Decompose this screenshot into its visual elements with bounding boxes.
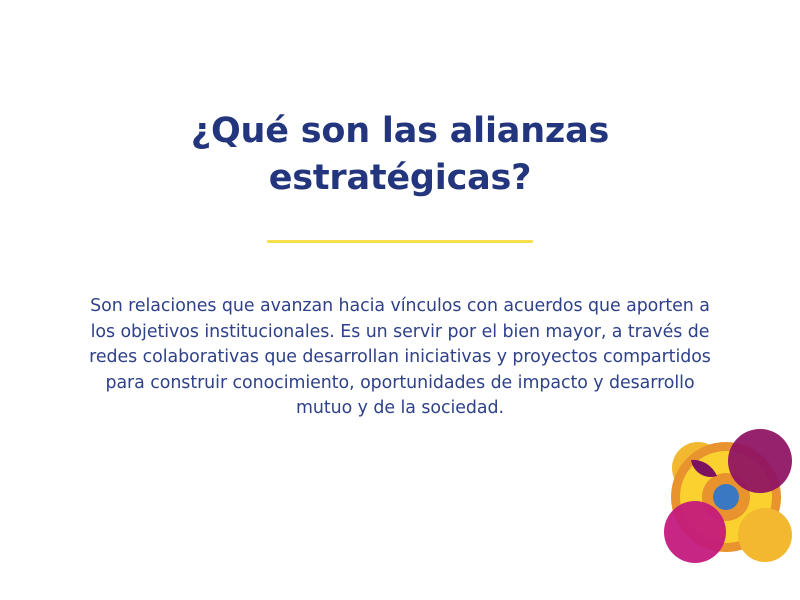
body-line-1: Son relaciones que avanzan hacia vínculo… [44, 294, 756, 320]
logo-satellite-bottom-right [738, 508, 792, 562]
body-line-5: mutuo y de la sociedad. [44, 396, 756, 422]
slide-title-line-1: ¿Qué son las alianzas [100, 108, 700, 155]
title-divider [0, 240, 800, 243]
logo-blue-core [713, 484, 739, 510]
logo-satellite-bottom-left [664, 501, 726, 563]
logo-svg [655, 420, 800, 580]
divider-line [267, 240, 533, 243]
slide-title: ¿Qué son las alianzas estratégicas? [100, 108, 700, 202]
body-line-3: redes colaborativas que desarrollan inic… [44, 345, 756, 371]
body-line-2: los objetivos institucionales. Es un ser… [44, 320, 756, 346]
body-line-4: para construir conocimiento, oportunidad… [44, 371, 756, 397]
slide-canvas: ¿Qué son las alianzas estratégicas? Son … [0, 0, 800, 600]
decorative-circles-logo-icon [655, 420, 800, 580]
slide-title-line-2: estratégicas? [100, 155, 700, 202]
slide-body-text: Son relaciones que avanzan hacia vínculo… [44, 294, 756, 422]
logo-satellite-top-right [728, 429, 792, 493]
